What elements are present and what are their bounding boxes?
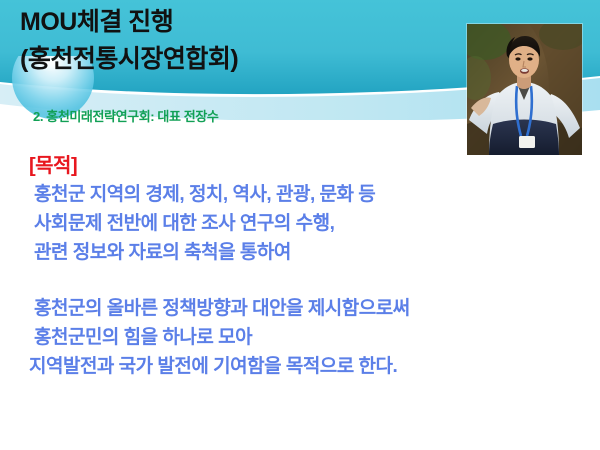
- slide-canvas: MOU체결 진행 (홍천전통시장연합회): [0, 0, 600, 450]
- goal-line-1: 홍천군의 올바른 정책방향과 대안을 제시함으로써: [29, 294, 574, 323]
- purpose-line-2: 사회문제 전반에 대한 조사 연구의 수행,: [29, 209, 574, 238]
- goal-line-2: 홍천군민의 힘을 하나로 모아: [29, 323, 574, 352]
- paragraph-spacer: [29, 267, 574, 294]
- goal-line-3: 지역발전과 국가 발전에 기여함을 목적으로 한다.: [29, 352, 574, 381]
- section-heading-purpose: [목적]: [29, 152, 574, 180]
- purpose-line-1: 홍천군 지역의 경제, 정치, 역사, 관광, 문화 등: [29, 180, 574, 209]
- subtitle: 2. 홍천미래전략연구회: 대표 전장수: [33, 106, 218, 125]
- speaker-photo: [467, 24, 582, 155]
- speaker-photo-image: [467, 24, 582, 155]
- title-line-2: (홍천전통시장연합회): [20, 41, 440, 78]
- page-title: MOU체결 진행 (홍천전통시장연합회): [20, 4, 440, 78]
- body-content: [목적] 홍천군 지역의 경제, 정치, 역사, 관광, 문화 등 사회문제 전…: [29, 152, 574, 381]
- purpose-line-3: 관련 정보와 자료의 축척을 통하여: [29, 238, 574, 267]
- title-line-1: MOU체결 진행: [20, 4, 440, 41]
